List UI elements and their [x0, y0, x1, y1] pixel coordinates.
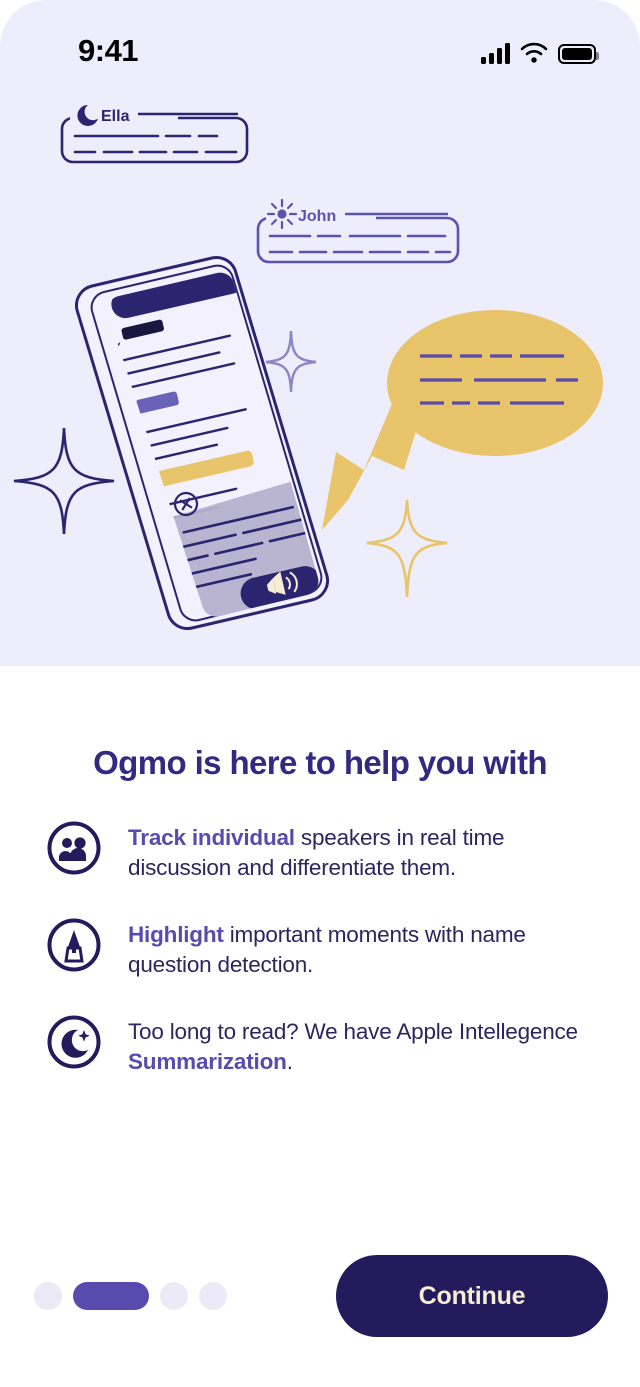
feature-text-before: Too long to read? We have Apple Intelleg… — [128, 1019, 578, 1044]
wifi-icon — [520, 42, 548, 64]
feature-text: Too long to read? We have Apple Intelleg… — [128, 1012, 594, 1077]
svg-text:Ella: Ella — [101, 108, 130, 125]
battery-full-icon — [558, 44, 596, 64]
feature-strong: Highlight — [128, 922, 224, 947]
content-panel: Ogmo is here to help you with Track indi… — [0, 666, 640, 1387]
continue-button[interactable]: Continue — [336, 1255, 608, 1337]
pagination-dots[interactable] — [34, 1282, 227, 1310]
moon-sparkle-icon — [46, 1014, 102, 1070]
feature-text: Track individual speakers in real time d… — [128, 818, 594, 883]
sparkle-yellow — [367, 500, 447, 597]
sparkle-purple-small — [266, 331, 316, 392]
people-group-icon — [46, 820, 102, 876]
feature-strong: Track individual — [128, 825, 295, 850]
sparkle-navy-large — [14, 428, 114, 534]
speaker-card-ella: Ella — [62, 105, 247, 162]
feature-item-summarization: Too long to read? We have Apple Intelleg… — [46, 1012, 594, 1077]
onboarding-screen: Ella — [0, 0, 640, 1387]
feature-item-track-speakers: Track individual speakers in real time d… — [46, 818, 594, 883]
pagination-dot-1[interactable] — [34, 1282, 62, 1310]
feature-strong: Summarization — [128, 1049, 287, 1074]
pagination-dot-4[interactable] — [199, 1282, 227, 1310]
status-icons — [481, 38, 596, 64]
status-bar: 9:41 — [0, 0, 640, 96]
footer-bar: Continue — [0, 1237, 640, 1387]
status-time: 9:41 — [78, 33, 138, 69]
speech-bubble — [387, 310, 603, 456]
pagination-dot-2-active[interactable] — [73, 1282, 149, 1310]
feature-text: Highlight important moments with name qu… — [128, 915, 594, 980]
feature-list: Track individual speakers in real time d… — [46, 818, 594, 1109]
page-title: Ogmo is here to help you with — [0, 744, 640, 782]
cellular-bars-icon — [481, 43, 510, 64]
highlighter-pen-icon — [46, 917, 102, 973]
speaker-card-john: John — [258, 200, 458, 262]
pagination-dot-3[interactable] — [160, 1282, 188, 1310]
feature-item-highlight: Highlight important moments with name qu… — [46, 915, 594, 980]
feature-text-after: . — [287, 1049, 293, 1074]
svg-text:John: John — [298, 208, 336, 225]
illustration-panel: Ella — [0, 0, 640, 666]
